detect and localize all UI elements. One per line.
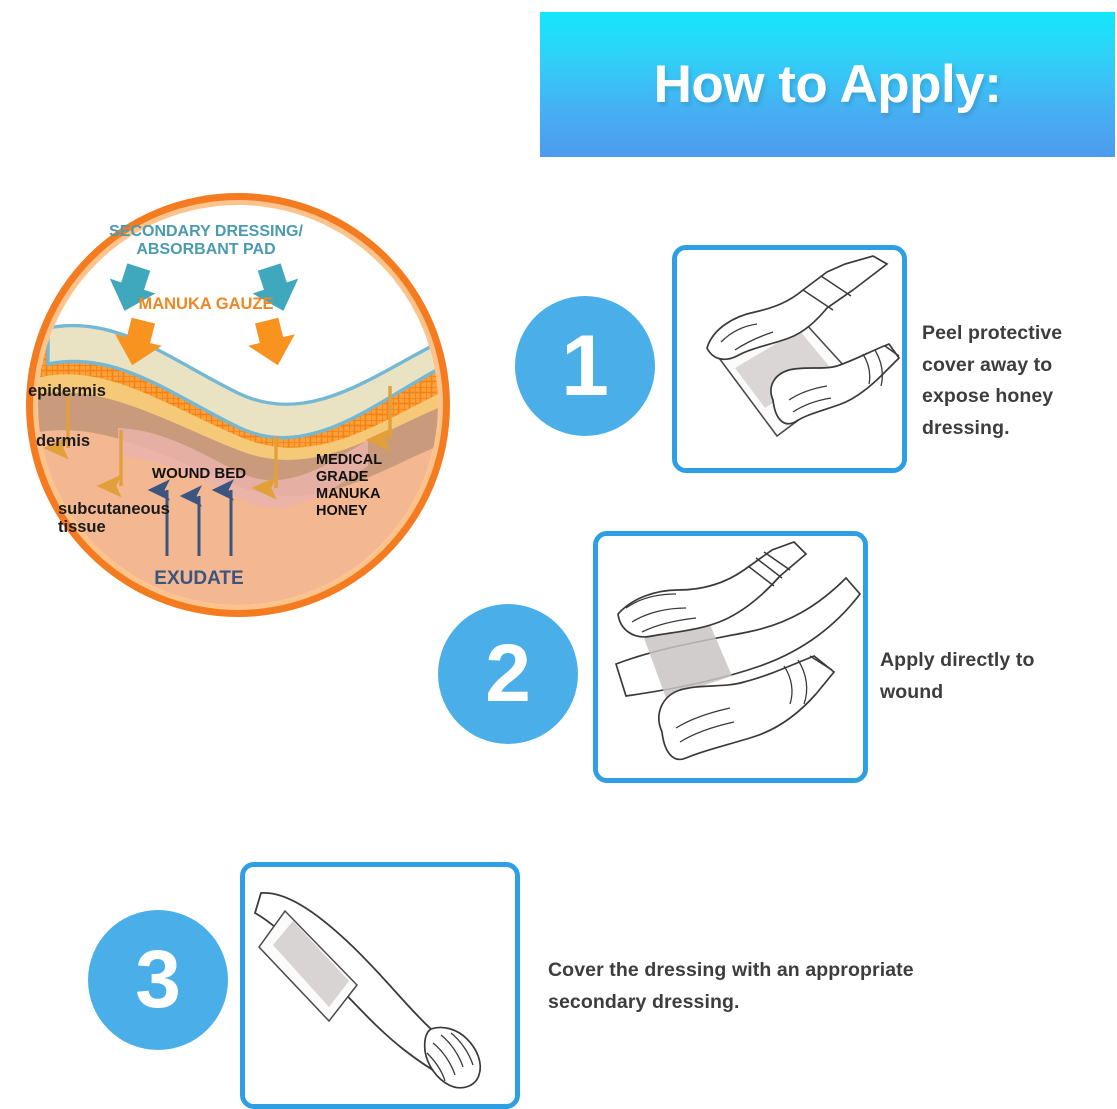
label-absorbant-pad: ABSORBANT PAD (136, 241, 275, 258)
label-epidermis: epidermis (28, 382, 106, 400)
label-subcutaneous-line2: tissue (58, 518, 106, 536)
step-1-number-badge: 1 (515, 296, 655, 436)
step-2-illustration-frame (593, 531, 868, 783)
label-wound-bed: WOUND BED (152, 465, 246, 482)
step-3-number-badge: 3 (88, 910, 228, 1050)
hands-applying-dressing-illustration (598, 536, 863, 778)
label-honey-line4: HONEY (316, 503, 368, 519)
header-banner: How to Apply: (540, 12, 1115, 157)
label-honey-line2: GRADE (316, 469, 369, 485)
infographic-page: How to Apply: (0, 0, 1117, 1109)
step-2-text: Apply directly to wound (880, 645, 1070, 708)
page-title: How to Apply: (654, 54, 1002, 115)
arm-with-dressing-illustration (245, 867, 515, 1104)
step-3-number: 3 (135, 933, 181, 1027)
step-1-text: Peel protective cover away to expose hon… (922, 318, 1102, 444)
label-secondary-dressing: SECONDARY DRESSING/ (109, 223, 303, 240)
step-1-number: 1 (561, 317, 609, 416)
label-honey-line3: MANUKA (316, 486, 381, 502)
label-subcutaneous-line1: subcutaneous (58, 500, 170, 518)
wound-cross-section-diagram: SECONDARY DRESSING/ ABSORBANT PAD MANUKA… (8, 178, 468, 633)
step-3-text: Cover the dressing with an appropriate s… (548, 955, 968, 1018)
step-2-number-badge: 2 (438, 604, 578, 744)
label-honey-line1: MEDICAL (316, 452, 382, 468)
step-3-illustration-frame (240, 862, 520, 1109)
step-1-illustration-frame (672, 245, 907, 473)
step-2-number: 2 (485, 627, 531, 721)
hands-peeling-cover-illustration (677, 250, 902, 468)
label-exudate: EXUDATE (154, 568, 243, 589)
label-manuka-gauze: MANUKA GAUZE (138, 295, 273, 313)
label-dermis: dermis (36, 432, 90, 450)
